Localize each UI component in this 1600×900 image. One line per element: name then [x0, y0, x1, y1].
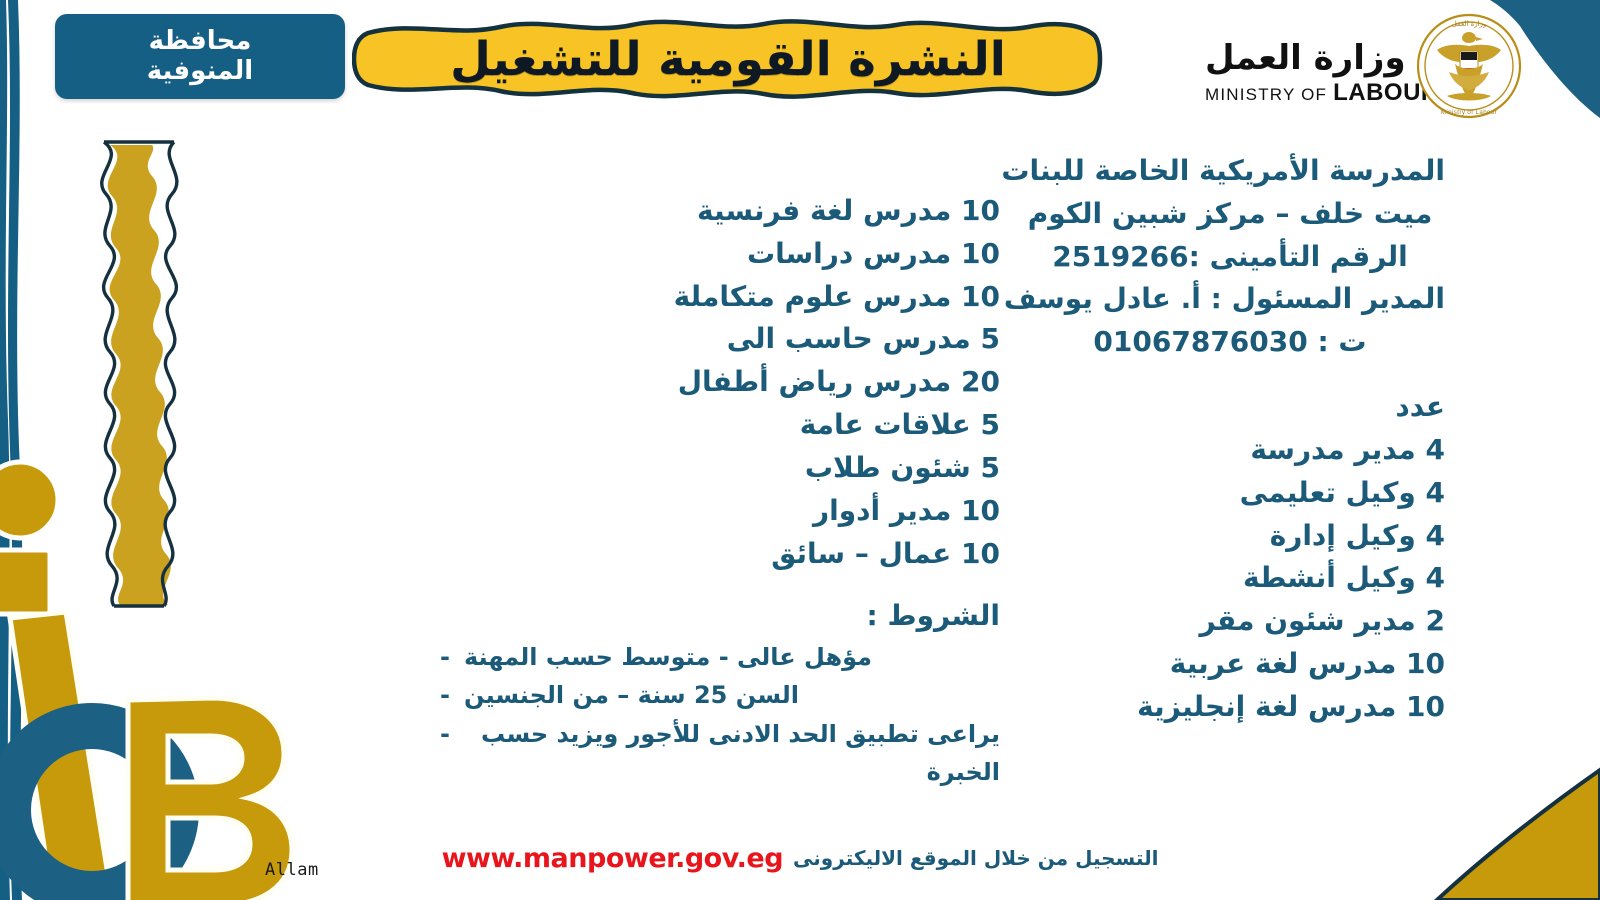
vacancy-item: 5 علاقات عامة	[690, 404, 1000, 447]
poster-footer: التسجيل من خلال الموقع الاليكترونى www.m…	[0, 835, 1600, 881]
conditions-list: مؤهل عالى - متوسط حسب المهنة - السن 25 س…	[440, 638, 1000, 792]
vacancy-item: 5 مدرس حاسب الى	[690, 318, 1000, 361]
condition-text: السن 25 سنة – من الجنسين	[464, 676, 799, 714]
employer-phone: ت : 01067876030	[1015, 321, 1445, 364]
governorate-label-line1: محافظة	[149, 27, 252, 57]
vacancy-count-header: عدد	[1015, 386, 1445, 429]
vacancy-item: 4 وكيل أنشطة	[1015, 557, 1445, 600]
ministry-name-arabic: وزارة العمل	[1205, 41, 1406, 75]
title-banner: النشرة القومية للتشغيل	[352, 15, 1104, 103]
page-title: النشرة القومية للتشغيل	[352, 15, 1104, 103]
vacancy-item: 2 مدير شئون مقر	[1015, 600, 1445, 643]
poster-body: المدرسة الأمريكية الخاصة للبنات ميت خلف …	[0, 140, 1600, 840]
registration-url-link[interactable]: www.manpower.gov.eg	[442, 843, 783, 874]
vacancy-item: 5 شئون طلاب	[690, 447, 1000, 490]
governorate-chip: محافظة المنوفية	[55, 14, 345, 99]
condition-text: يراعى تطبيق الحد الادنى للأجور ويزيد حسب…	[464, 715, 1000, 792]
vacancy-list-right: 4 مدير مدرسة 4 وكيل تعليمى 4 وكيل إدارة …	[1015, 429, 1445, 729]
condition-text: مؤهل عالى - متوسط حسب المهنة	[464, 638, 872, 676]
vacancy-item: 4 مدير مدرسة	[1015, 429, 1445, 472]
register-instruction: التسجيل من خلال الموقع الاليكترونى	[793, 846, 1158, 870]
poster-header: محافظة المنوفية النشرة القومية للتشغيل و…	[0, 0, 1600, 140]
condition-item: يراعى تطبيق الحد الادنى للأجور ويزيد حسب…	[440, 715, 1000, 792]
employer-name: المدرسة الأمريكية الخاصة للبنات	[1015, 150, 1445, 193]
vacancy-item: 20 مدرس رياض أطفال	[690, 361, 1000, 404]
author-watermark: Allam	[265, 860, 319, 880]
poster-canvas: محافظة المنوفية النشرة القومية للتشغيل و…	[0, 0, 1600, 900]
bullet-dash-icon: -	[440, 638, 450, 676]
condition-item: مؤهل عالى - متوسط حسب المهنة -	[440, 638, 1000, 676]
ministry-name-english: MINISTRY OF LABOUR	[1205, 79, 1439, 107]
governorate-label-line2: المنوفية	[147, 57, 253, 87]
emblem-top-text: وزارة العمل	[1452, 20, 1487, 28]
egypt-eagle-emblem-icon: وزارة العمل Ministry of Labour	[1415, 10, 1523, 122]
vacancy-item: 10 عمال – سائق	[690, 533, 1000, 576]
bullet-dash-icon: -	[440, 715, 450, 792]
conditions-heading: الشروط :	[440, 595, 1000, 638]
bullet-dash-icon: -	[440, 676, 450, 714]
conditions-block: الشروط : مؤهل عالى - متوسط حسب المهنة - …	[440, 595, 1000, 791]
vacancy-item: 10 مدرس علوم متكاملة	[690, 276, 1000, 319]
employer-insurance-number: الرقم التأمينى :2519266	[1015, 236, 1445, 279]
employer-address: ميت خلف – مركز شبين الكوم	[1015, 193, 1445, 236]
vacancy-item: 10 مدرس لغة إنجليزية	[1015, 686, 1445, 729]
emblem-bottom-text: Ministry of Labour	[1441, 109, 1497, 116]
vacancy-item: 10 مدرس لغة فرنسية	[690, 190, 1000, 233]
ministry-english-prefix: MINISTRY OF	[1205, 85, 1327, 104]
vacancy-item: 4 وكيل إدارة	[1015, 515, 1445, 558]
employer-manager: المدير المسئول : أ. عادل يوسف	[1015, 278, 1445, 321]
ministry-wordmark: وزارة العمل MINISTRY OF LABOUR	[1205, 24, 1435, 124]
vacancy-item: 10 مدير أدوار	[690, 490, 1000, 533]
vacancy-list-left: 10 مدرس لغة فرنسية 10 مدرس دراسات 10 مدر…	[690, 190, 1000, 575]
employer-and-vacancies-right: المدرسة الأمريكية الخاصة للبنات ميت خلف …	[1015, 150, 1445, 729]
vacancy-item: 10 مدرس لغة عربية	[1015, 643, 1445, 686]
vacancy-item: 4 وكيل تعليمى	[1015, 472, 1445, 515]
condition-item: السن 25 سنة – من الجنسين -	[440, 676, 1000, 714]
vacancy-item: 10 مدرس دراسات	[690, 233, 1000, 276]
